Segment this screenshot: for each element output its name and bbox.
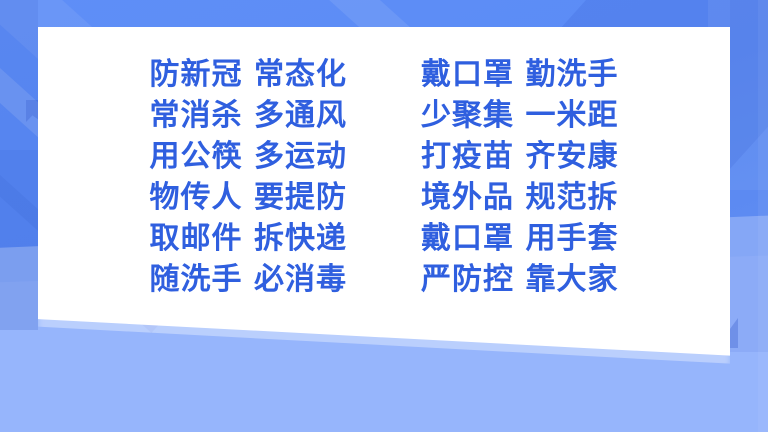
poster-canvas: 防新冠 常态化 常消杀 多通风 用公筷 多运动 物传人 要提防 取邮件 拆快递 … [0, 0, 768, 432]
left-edge-panel-secondary [0, 150, 38, 330]
white-content-card [38, 27, 730, 359]
right-edge-highlight [758, 0, 768, 432]
